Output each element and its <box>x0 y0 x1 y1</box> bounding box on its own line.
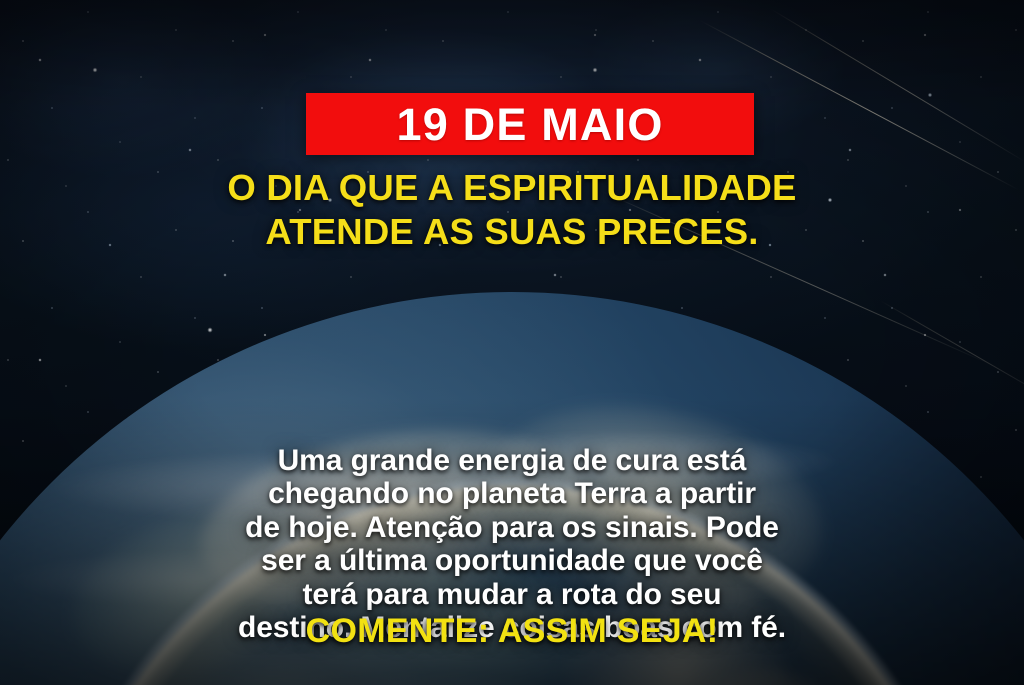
body-line-5: terá para mudar a rota do seu <box>12 578 1012 611</box>
body-line-2: chegando no planeta Terra a partir <box>12 477 1012 510</box>
headline-line-2: ATENDE AS SUAS PRECES. <box>32 210 992 254</box>
poster-content: 19 DE MAIO O DIA QUE A ESPIRITUALIDADE A… <box>0 0 1024 685</box>
body-line-4: ser a última oportunidade que você <box>12 544 1012 577</box>
date-banner: 19 DE MAIO <box>306 93 754 155</box>
body-line-1: Uma grande energia de cura está <box>12 444 1012 477</box>
headline-line-1: O DIA QUE A ESPIRITUALIDADE <box>32 166 992 210</box>
body-line-3: de hoje. Atenção para os sinais. Pode <box>12 511 1012 544</box>
headline: O DIA QUE A ESPIRITUALIDADE ATENDE AS SU… <box>32 166 992 254</box>
date-banner-text: 19 DE MAIO <box>396 102 663 147</box>
poster-canvas: 19 DE MAIO O DIA QUE A ESPIRITUALIDADE A… <box>0 0 1024 685</box>
call-to-action-text: COMENTE: ASSIM SEJA! <box>306 612 719 651</box>
